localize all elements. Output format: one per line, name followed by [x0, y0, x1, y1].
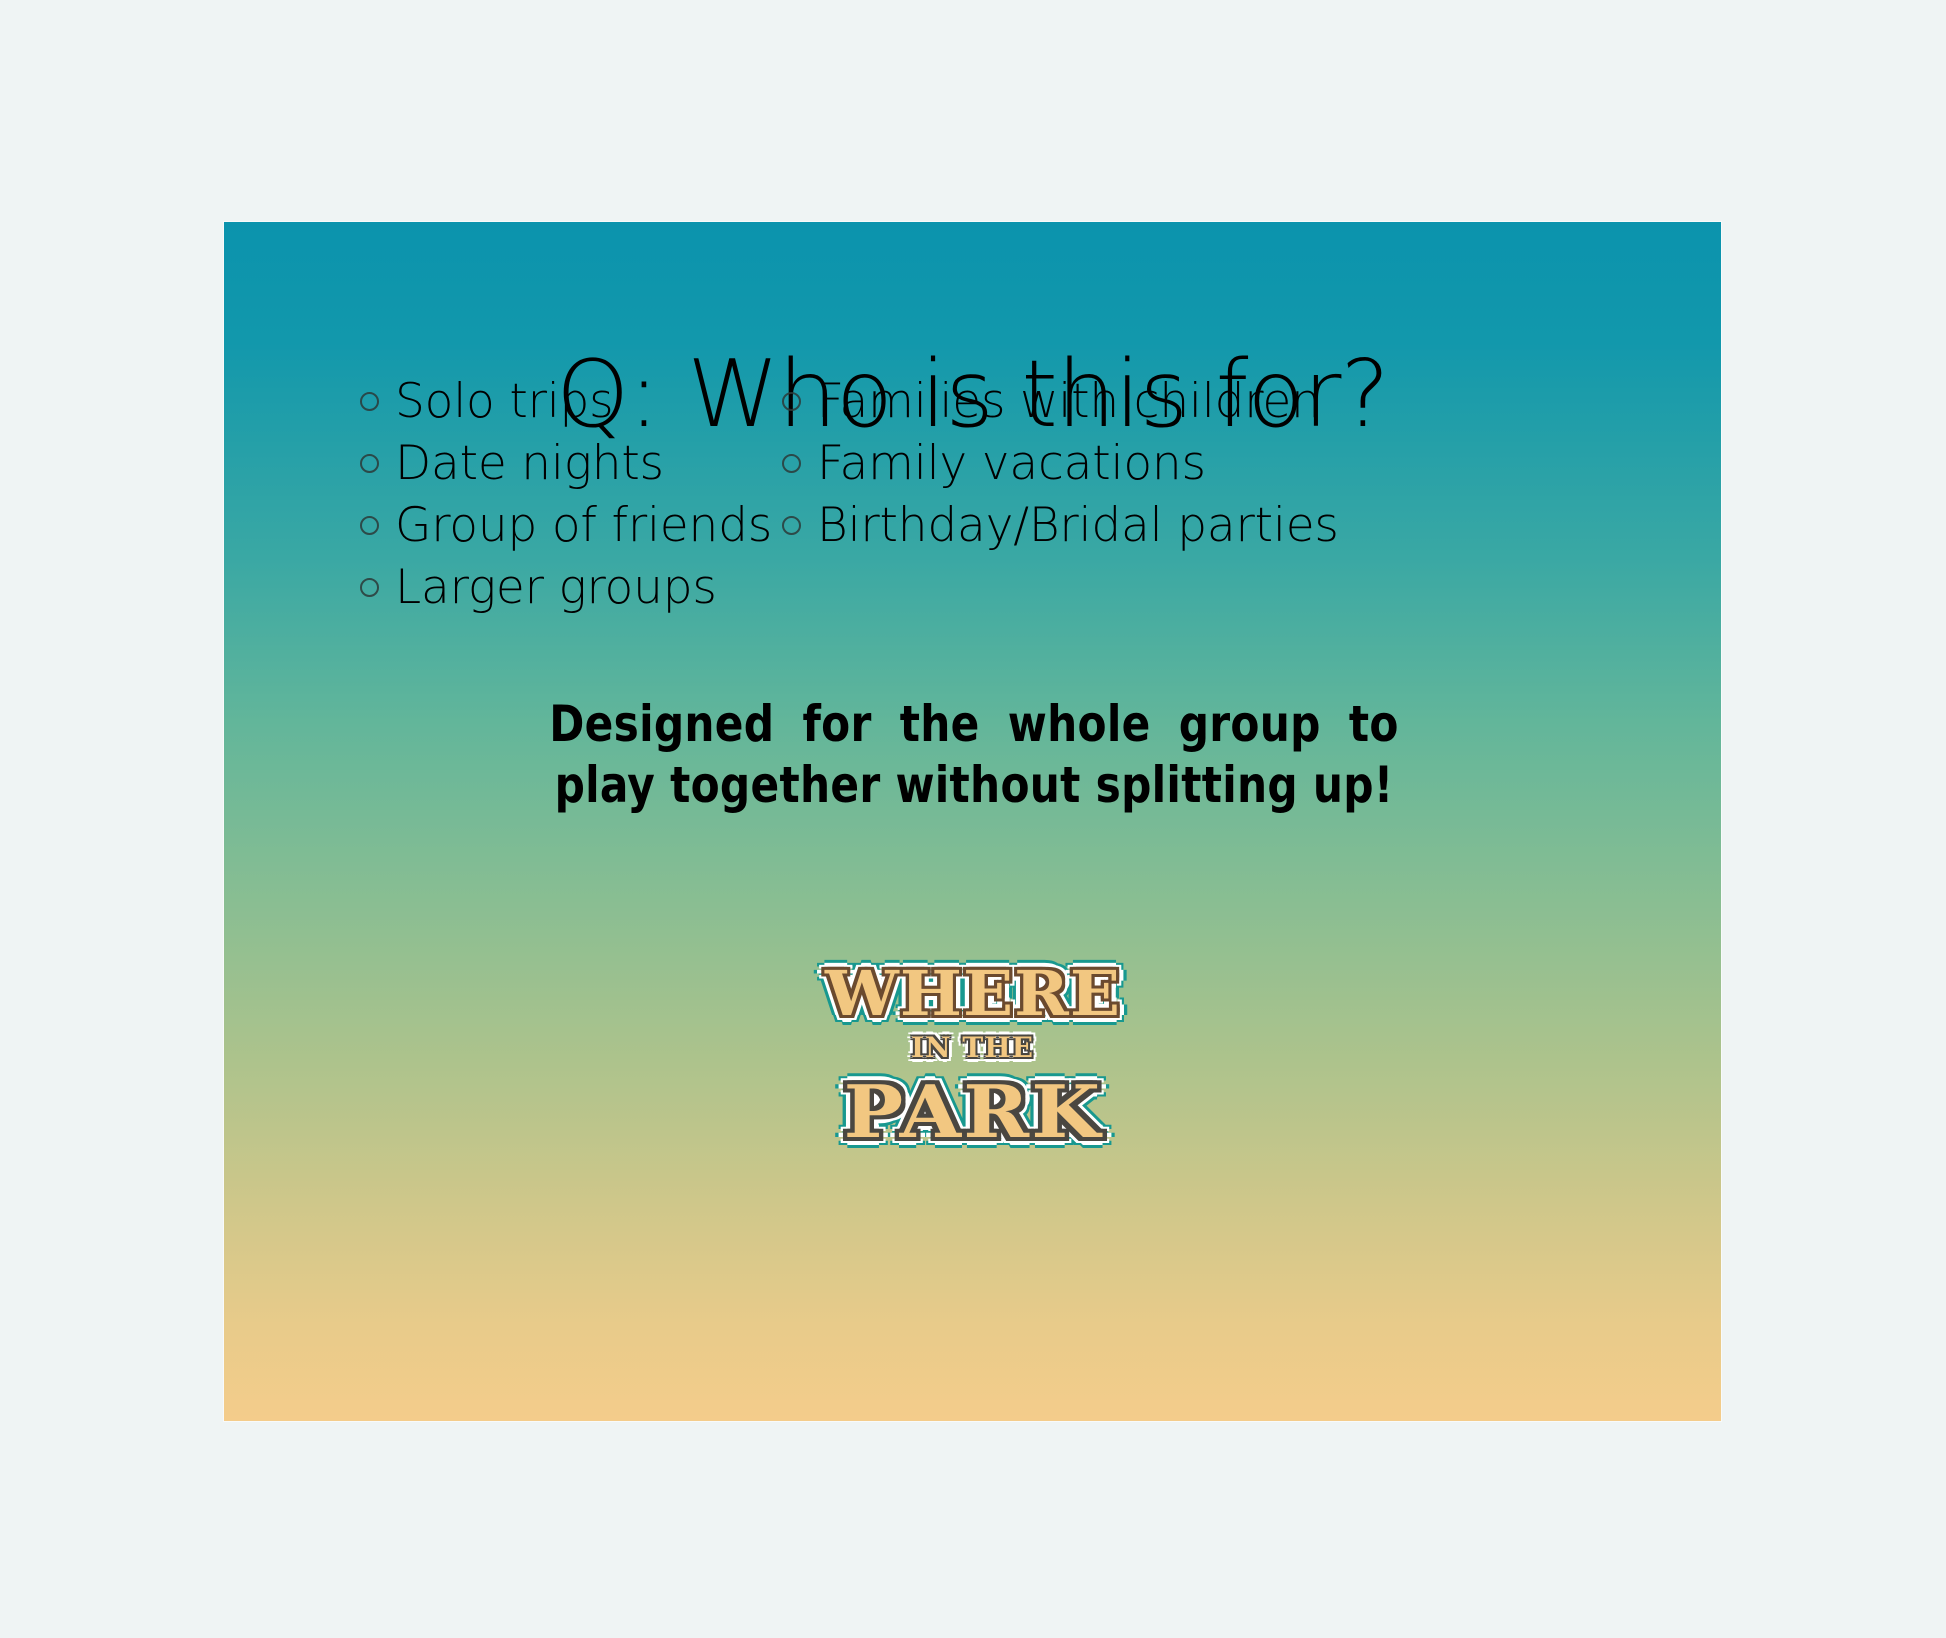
tagline-line-1: Designed for the whole group to [495, 694, 1454, 755]
bullet-column-left: Solo trips Date nights Group of friends … [360, 372, 830, 620]
bullet-label: Families with children [817, 378, 1321, 425]
circle-bullet-icon [360, 392, 379, 411]
circle-bullet-icon [782, 454, 801, 473]
presentation-slide: Q: Who is this for? Solo trips Date nigh… [224, 222, 1721, 1421]
list-item: Birthday/Bridal parties [782, 496, 1422, 555]
circle-bullet-icon [782, 392, 801, 411]
bullet-label: Solo trips [395, 378, 613, 425]
bullet-label: Larger groups [395, 564, 717, 611]
circle-bullet-icon [360, 578, 379, 597]
logo-word-in-the: IN THE [823, 1031, 1123, 1064]
list-item: Families with children [782, 372, 1422, 431]
where-in-the-park-logo: WHERE IN THE PARK [823, 957, 1123, 1157]
circle-bullet-icon [360, 454, 379, 473]
audience-bullet-columns: Solo trips Date nights Group of friends … [224, 372, 1721, 692]
tagline-block: Designed for the whole group to play tog… [464, 694, 1484, 816]
list-item: Solo trips [360, 372, 830, 431]
bullet-column-right: Families with children Family vacations … [782, 372, 1422, 558]
logo-word-park: PARK [808, 1069, 1138, 1154]
list-item: Date nights [360, 434, 830, 493]
bullet-label: Family vacations [817, 440, 1206, 487]
circle-bullet-icon [360, 516, 379, 535]
bullet-label: Birthday/Bridal parties [817, 502, 1339, 549]
list-item: Larger groups [360, 558, 830, 617]
list-item: Family vacations [782, 434, 1422, 493]
bullet-label: Date nights [395, 440, 664, 487]
bullet-list-right: Families with children Family vacations … [782, 372, 1422, 555]
bullet-label: Group of friends [395, 502, 772, 549]
list-item: Group of friends [360, 496, 830, 555]
circle-bullet-icon [782, 516, 801, 535]
tagline-line-2: play together without splitting up! [495, 755, 1454, 816]
bullet-list-left: Solo trips Date nights Group of friends … [360, 372, 830, 617]
logo-word-where: WHERE [814, 957, 1132, 1030]
